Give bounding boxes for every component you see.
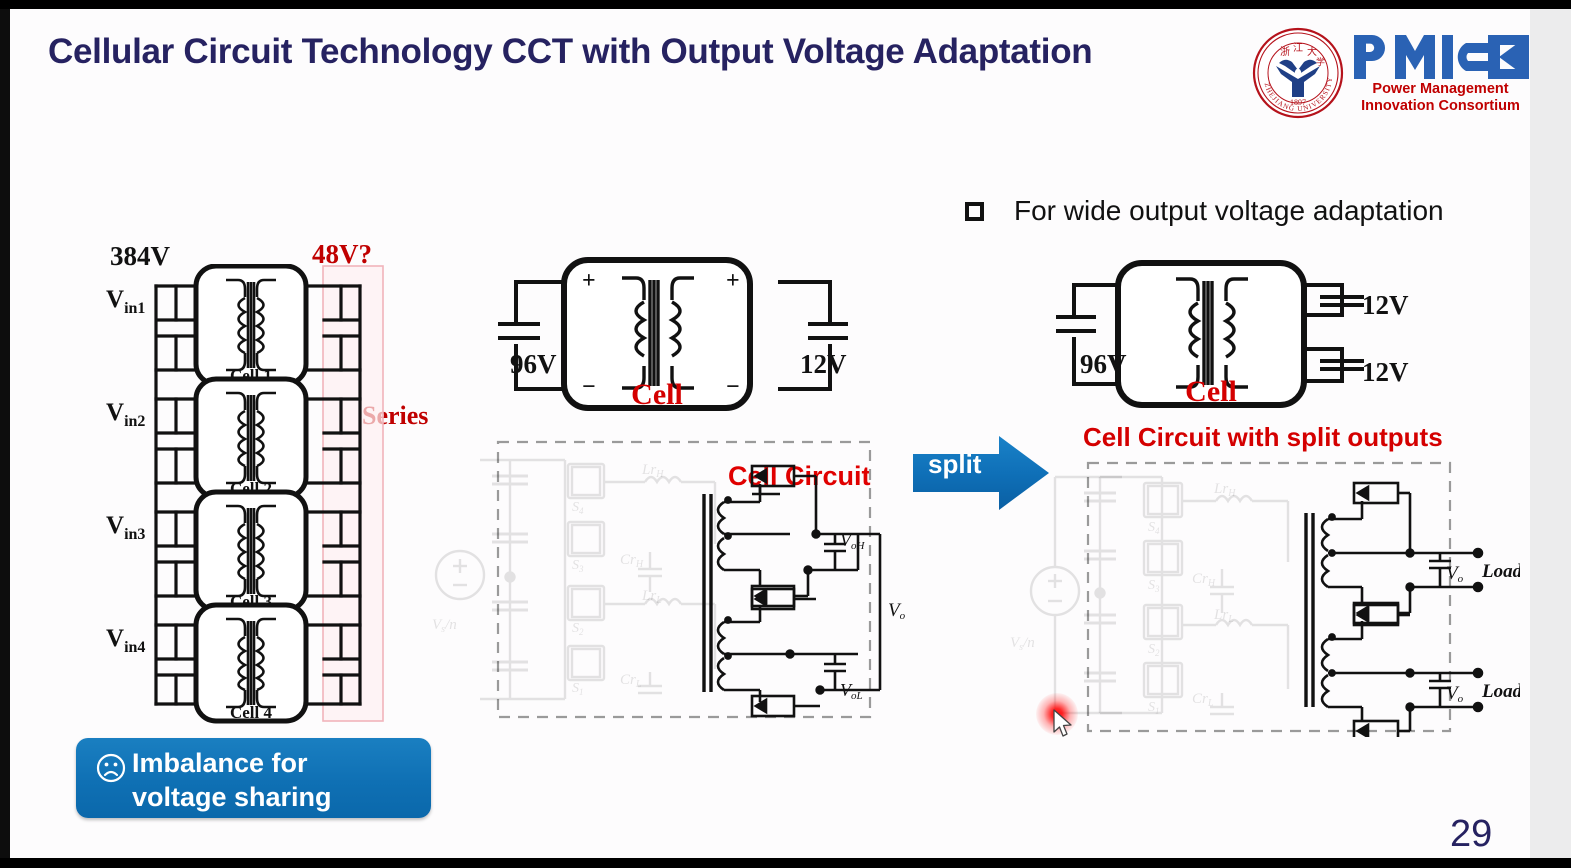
center-cell-block-label: Cell bbox=[631, 378, 683, 411]
square-bullet-icon bbox=[965, 202, 984, 221]
right-inductor-high-label: LrH bbox=[1213, 481, 1236, 499]
imbalance-line2: voltage sharing bbox=[132, 782, 332, 812]
center-cap-low-label: CrL bbox=[620, 672, 642, 690]
imbalance-text: Imbalance for voltage sharing bbox=[132, 746, 332, 814]
center-cell-block-diagram: + − + − Cell bbox=[498, 254, 848, 419]
right-load-bottom-label: Load bbox=[1481, 681, 1520, 702]
zhejiang-university-seal-logo: 浙 江 大 学 1897 ZHEJIANG UNIVERSITY bbox=[1252, 27, 1344, 119]
schematic-dashed-border bbox=[498, 442, 870, 717]
cell-name: Cell 4 bbox=[230, 703, 273, 722]
right-cap-high-label: CrH bbox=[1192, 571, 1216, 589]
pmic-subtitle-line2: Innovation Consortium bbox=[1361, 98, 1520, 114]
pmic-wordmark-icon bbox=[1348, 29, 1530, 85]
vin2-label: Vin2 bbox=[106, 399, 145, 431]
pmic-subtitle-line1: Power Management bbox=[1372, 81, 1508, 97]
vin1-label: Vin1 bbox=[106, 286, 145, 318]
right-switch-label-s4: S4 bbox=[1148, 520, 1160, 536]
slide-canvas: Cellular Circuit Technology CCT with Out… bbox=[10, 9, 1530, 858]
right-source-label: Vs/n bbox=[1010, 635, 1035, 653]
svg-text:江: 江 bbox=[1293, 42, 1303, 54]
right-load-bottom-voltage: Vo bbox=[1446, 683, 1464, 705]
center-inductor-low-label: LrL bbox=[641, 588, 662, 606]
center-output-voltage: 12V bbox=[800, 349, 847, 380]
center-source-label: Vs/n bbox=[432, 617, 457, 635]
center-cell-plus-left: + bbox=[582, 268, 596, 294]
letterbox-top-bar bbox=[0, 0, 1571, 9]
right-switch-label-s1: S1 bbox=[1148, 700, 1160, 716]
center-input-voltage: 96V bbox=[510, 349, 557, 380]
pmic-logo: Power Management Innovation Consortium bbox=[1348, 29, 1530, 121]
right-output-voltage-top: 12V bbox=[1362, 290, 1409, 321]
right-cell-caption: Cell Circuit with split outputs bbox=[1083, 422, 1443, 453]
center-out-low-label: VoL bbox=[840, 680, 863, 702]
right-inductor-low-label: LrL bbox=[1213, 607, 1234, 625]
vin4-label: Vin4 bbox=[106, 625, 145, 657]
center-cell-minus-left: − bbox=[582, 374, 596, 400]
svg-text:浙: 浙 bbox=[1280, 46, 1290, 58]
arrow-cursor bbox=[1052, 709, 1074, 739]
center-cell-minus-right: − bbox=[726, 374, 740, 400]
screen: Cellular Circuit Technology CCT with Out… bbox=[0, 0, 1571, 868]
imbalance-callout[interactable]: Imbalance for voltage sharing bbox=[76, 738, 431, 818]
right-cap-low-label: CrL bbox=[1192, 691, 1214, 709]
page-title: Cellular Circuit Technology CCT with Out… bbox=[48, 29, 1038, 75]
center-out-total-label: Vo bbox=[888, 600, 906, 622]
pmic-subtitle: Power Management Innovation Consortium bbox=[1348, 81, 1530, 115]
sad-face-icon bbox=[96, 753, 126, 783]
right-switch-label-s3: S3 bbox=[1148, 578, 1160, 594]
center-switch-label-s1: S1 bbox=[572, 681, 584, 697]
center-switch-label-s2: S2 bbox=[572, 621, 584, 637]
right-input-voltage: 96V bbox=[1080, 349, 1127, 380]
center-cell-circuit-schematic: S4 S3 S2 S1 LrH LrL CrH CrL bbox=[480, 434, 920, 724]
split-arrow-label: split bbox=[928, 449, 981, 480]
center-cap-high-label: CrH bbox=[620, 552, 644, 570]
series-highlight-box bbox=[323, 266, 383, 721]
left-gutter bbox=[0, 9, 10, 858]
vin3-label: Vin3 bbox=[106, 512, 145, 544]
center-inductor-high-label: LrH bbox=[641, 462, 664, 480]
right-gutter bbox=[1530, 9, 1571, 858]
right-cell-block-label: Cell bbox=[1185, 375, 1237, 408]
center-source-symbol: Vs/n bbox=[418, 539, 508, 649]
right-load-top-label: Load bbox=[1481, 561, 1520, 582]
center-cell-plus-right: + bbox=[726, 268, 740, 294]
svg-text:学: 学 bbox=[1316, 56, 1325, 67]
center-switch-label-s3: S3 bbox=[572, 558, 584, 574]
center-switch-label-s4: S4 bbox=[572, 500, 584, 516]
right-cell-circuit-schematic: Vs/n bbox=[1010, 457, 1520, 737]
right-load-top-voltage: Vo bbox=[1446, 563, 1464, 585]
page-number: 29 bbox=[1450, 813, 1492, 856]
right-switch-label-s2: S2 bbox=[1148, 642, 1160, 658]
right-output-voltage-bottom: 12V bbox=[1362, 357, 1409, 388]
letterbox-bottom-bar bbox=[0, 858, 1571, 868]
imbalance-line1: Imbalance for bbox=[132, 748, 308, 778]
bullet-text: For wide output voltage adaptation bbox=[1014, 195, 1444, 227]
bullet-row: For wide output voltage adaptation bbox=[965, 195, 1444, 227]
